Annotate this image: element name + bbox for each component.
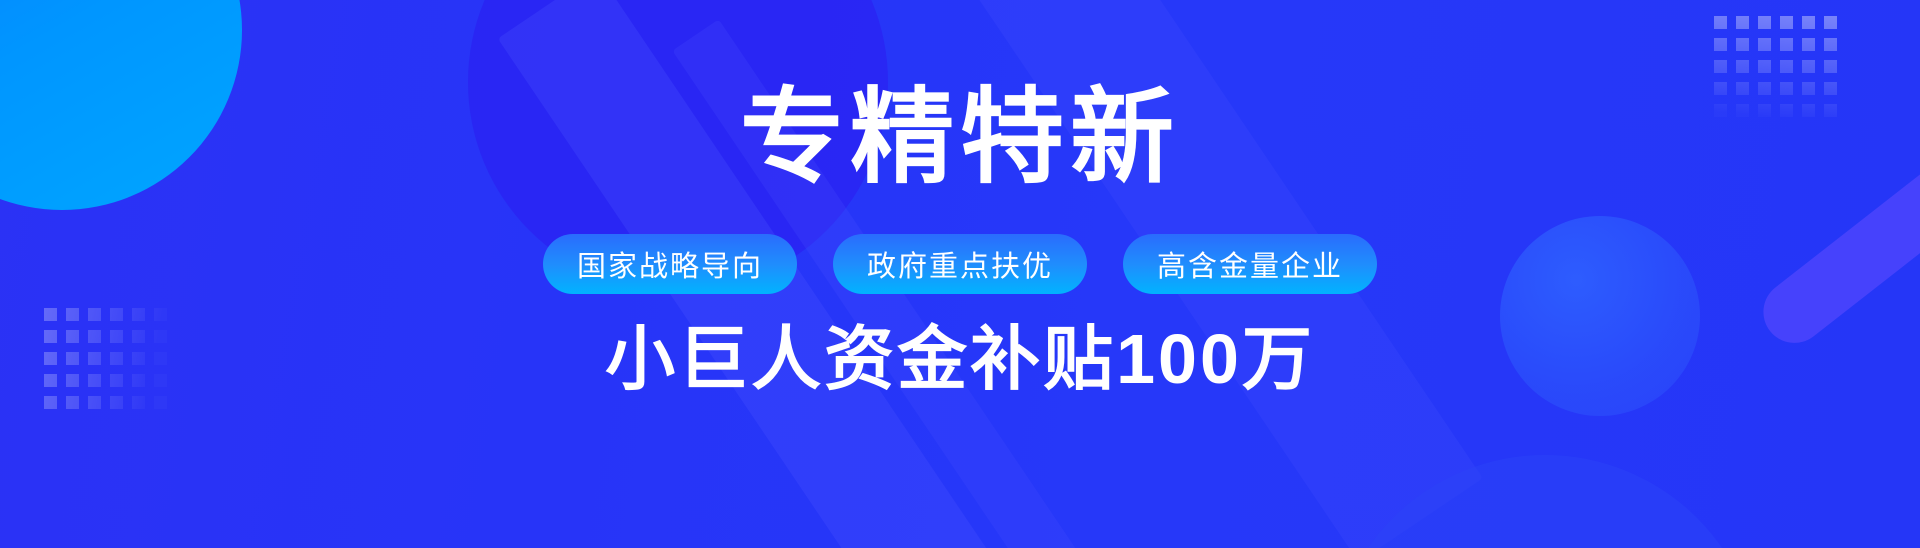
feature-pill-high-value-enterprise[interactable]: 高含金量企业 <box>1123 234 1377 294</box>
feature-pill-row: 国家战略导向 政府重点扶优 高含金量企业 <box>543 234 1377 294</box>
promo-banner: 专精特新 国家战略导向 政府重点扶优 高含金量企业 小巨人资金补贴100万 <box>0 0 1920 548</box>
banner-content: 专精特新 国家战略导向 政府重点扶优 高含金量企业 小巨人资金补贴100万 <box>0 0 1920 548</box>
banner-subheadline: 小巨人资金补贴100万 <box>605 324 1315 394</box>
feature-pill-national-strategy[interactable]: 国家战略导向 <box>543 234 797 294</box>
banner-headline: 专精特新 <box>740 86 1180 190</box>
feature-pill-government-support[interactable]: 政府重点扶优 <box>833 234 1087 294</box>
